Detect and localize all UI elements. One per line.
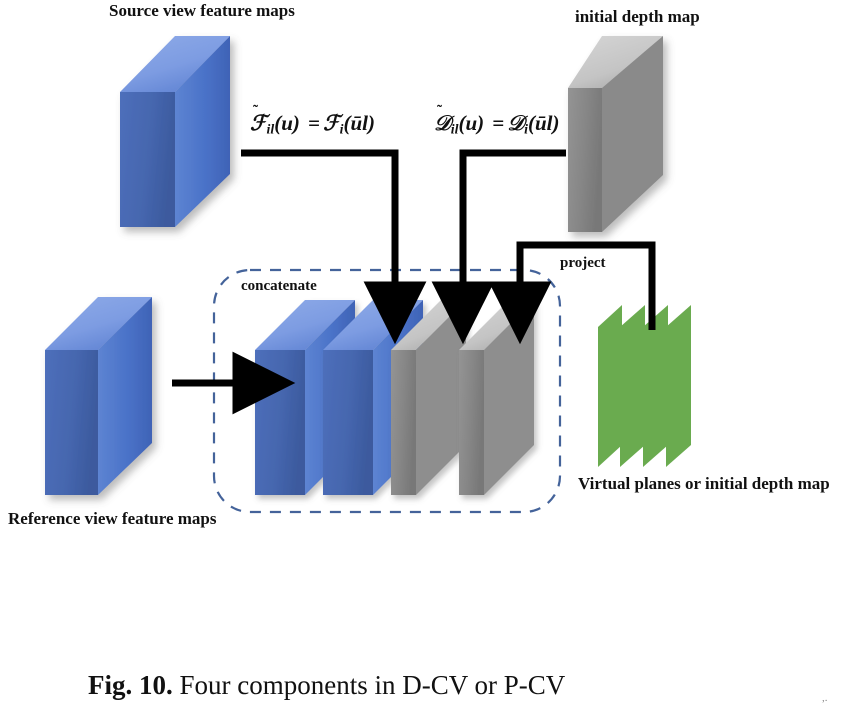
feature-warp-tilde: ˜ <box>253 104 258 119</box>
figure-caption-text: Four components in D-CV or P-CV <box>180 670 566 700</box>
figure-root: Source view feature maps initial depth m… <box>0 0 855 713</box>
figure-caption: Fig. 10. Four components in D-CV or P-CV <box>88 672 565 699</box>
depth-warp-rhs-arg: (ūl) <box>528 111 560 135</box>
feature-warp-rhs-arg: (ūl) <box>343 111 375 135</box>
source-view-feature-maps-block <box>120 36 230 227</box>
depth-warp-lhs-arg: (u) <box>458 111 484 135</box>
label-virtual-planes: Virtual planes or initial depth map <box>578 475 830 492</box>
feature-warp-eq: = <box>305 111 323 135</box>
reference-view-feature-maps-block <box>45 297 152 495</box>
depth-warp-arrow <box>463 153 566 289</box>
depth-warp-rhs-base: 𝒟 <box>507 111 524 135</box>
label-concatenate: concatenate <box>241 279 317 294</box>
depth-warp-eq: = <box>489 111 507 135</box>
cost-volume-slab-4 <box>459 300 534 495</box>
initial-depth-map-block <box>568 36 663 232</box>
virtual-planes-block <box>598 305 691 467</box>
label-source-view-feature-maps: Source view feature maps <box>109 2 295 19</box>
label-reference-view-feature-maps: Reference view feature maps <box>8 510 217 527</box>
label-initial-depth-map: initial depth map <box>575 8 700 25</box>
diagram-graphics <box>0 0 855 713</box>
formula-depth-warp: ˜ 𝒟 il(u) =𝒟i(ūl) <box>434 113 559 136</box>
feature-warp-rhs-base: ℱ <box>323 111 340 135</box>
feature-warp-arrow <box>241 153 395 289</box>
figure-number: Fig. 10. <box>88 670 173 700</box>
depth-warp-tilde: ˜ <box>437 104 442 119</box>
feature-warp-lhs-arg: (u) <box>274 111 300 135</box>
label-project: project <box>560 256 606 271</box>
formula-feature-warp: ˜ ℱ il(u) =ℱi(ūl) <box>250 113 375 136</box>
scan-artifact: ,. <box>822 692 828 704</box>
